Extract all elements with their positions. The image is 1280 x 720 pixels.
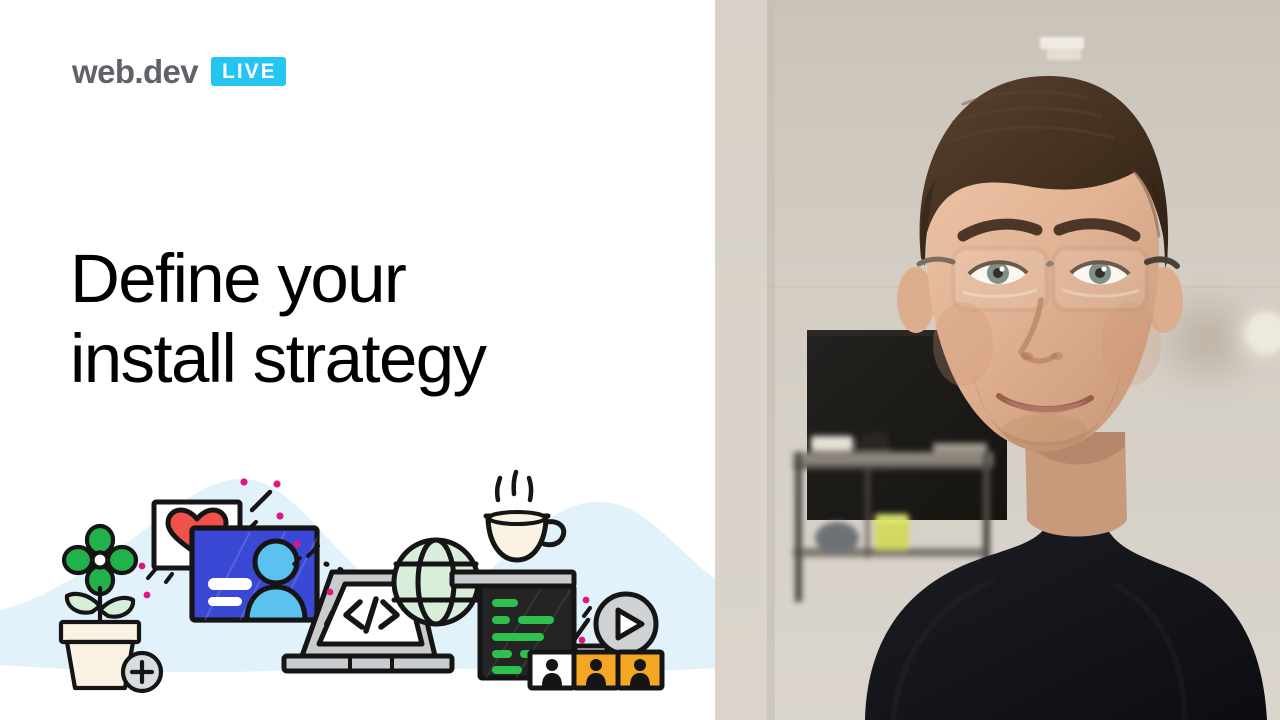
live-badge: LIVE	[211, 57, 286, 86]
brand-logo: web.dev LIVE	[72, 50, 286, 92]
presenter-glasses-icon	[919, 248, 1177, 310]
add-badge-icon	[123, 653, 161, 691]
coffee-cup-icon	[486, 472, 564, 560]
screen-root: web.dev LIVE Define your install strateg…	[0, 0, 1280, 720]
attendee-tiles	[530, 652, 662, 688]
attendee-tile	[574, 652, 618, 688]
presenter-webcam	[715, 0, 1280, 720]
attendee-tile	[530, 652, 574, 688]
brand-wordmark: web.dev	[72, 55, 198, 88]
presentation-slide: web.dev LIVE Define your install strateg…	[0, 0, 715, 720]
attendee-tile	[618, 652, 662, 688]
slide-title: Define your install strategy	[70, 239, 630, 399]
slide-illustration	[0, 460, 715, 720]
wall-corner	[715, 0, 767, 720]
play-button-icon[interactable]	[596, 594, 656, 654]
